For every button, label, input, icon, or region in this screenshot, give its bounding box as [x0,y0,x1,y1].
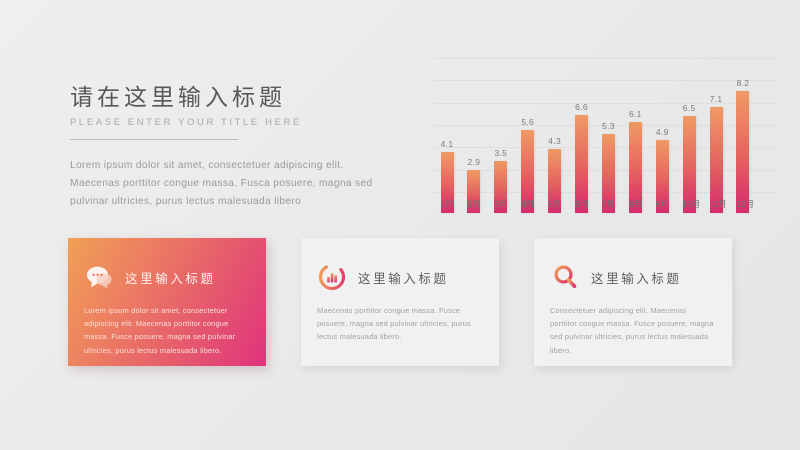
bar-column[interactable]: 6.6 [575,79,589,213]
card-title-2: 这里输入标题 [358,268,449,287]
bar-value-label: 4.3 [548,136,561,146]
card-title-1: 这里输入标题 [125,268,216,287]
card-title-3: 这里输入标题 [591,268,682,287]
axis-tick-label: 3月 [494,198,508,210]
monthly-bar-chart: 4.12.93.55.64.36.65.36.14.96.57.18.2 1月2… [434,58,754,213]
bar-column[interactable]: 4.1 [440,79,454,213]
axis-tick-label: 5月 [548,198,562,210]
bar-column[interactable]: 2.9 [467,79,481,213]
intro-block: 请在这里输入标题 PLEASE ENTER YOUR TITLE HERE Lo… [70,84,400,211]
bar-column[interactable]: 5.6 [521,79,535,213]
bar-value-label: 6.6 [575,102,588,112]
axis-tick-label: 11月 [709,198,723,210]
chart-bars: 4.12.93.55.64.36.65.36.14.96.57.18.2 [440,79,750,213]
axis-tick-label: 2月 [467,198,481,210]
bar-value-label: 5.6 [521,117,534,127]
page-subtitle: PLEASE ENTER YOUR TITLE HERE [70,117,400,128]
bar-column[interactable]: 3.5 [494,79,508,213]
bar-value-label: 3.5 [494,148,507,158]
bar-column[interactable]: 5.3 [601,79,615,213]
bar-value-label: 4.9 [656,127,669,137]
bar-column[interactable]: 6.1 [628,79,642,213]
page-title: 请在这里输入标题 [70,84,400,112]
card-header-2: 这里输入标题 [301,238,499,294]
feature-card-row: 这里输入标题 Lorem ipsum dolor sit amet, conse… [68,238,732,366]
bar-value-label: 2.9 [468,157,481,167]
magnifier-icon [550,262,580,292]
chat-bubble-icon [84,262,114,292]
bar-column[interactable]: 7.1 [709,79,723,213]
bar-value-label: 6.1 [629,109,642,119]
axis-tick-label: 9月 [655,198,669,210]
title-divider [70,139,238,140]
bar[interactable] [736,91,749,213]
bar-value-label: 6.5 [683,103,696,113]
bar-value-label: 7.1 [710,94,723,104]
axis-tick-label: 7月 [601,198,615,210]
card-body-3: Consectetuer adipiscing elit. Maecenas p… [534,294,732,357]
bar-column[interactable]: 8.2 [736,79,750,213]
bar-column[interactable]: 4.3 [548,79,562,213]
intro-paragraph: Lorem ipsum dolor sit amet, consectetuer… [70,157,390,211]
bar-value-label: 4.1 [441,139,454,149]
bar-value-label: 5.3 [602,121,615,131]
axis-tick-label: 10月 [682,198,696,210]
axis-tick-label: 12月 [736,198,750,210]
card-body-2: Maecenas porttitor congue massa. Fusce p… [301,294,499,344]
feature-card-3[interactable]: 这里输入标题 Consectetuer adipiscing elit. Mae… [534,238,732,366]
grid-line [434,58,778,59]
card-header-1: 这里输入标题 [68,238,266,294]
axis-tick-label: 6月 [575,198,589,210]
card-body-1: Lorem ipsum dolor sit amet, consectetuer… [68,294,266,357]
axis-tick-label: 4月 [521,198,535,210]
card-header-3: 这里输入标题 [534,238,732,294]
bar-column[interactable]: 4.9 [655,79,669,213]
axis-tick-label: 8月 [628,198,642,210]
bar-chart-circle-icon [317,262,347,292]
feature-card-2[interactable]: 这里输入标题 Maecenas porttitor congue massa. … [301,238,499,366]
feature-card-1[interactable]: 这里输入标题 Lorem ipsum dolor sit amet, conse… [68,238,266,366]
chart-x-axis: 1月2月3月4月5月6月7月8月9月10月11月12月 [440,198,750,210]
bar-column[interactable]: 6.5 [682,79,696,213]
axis-tick-label: 1月 [440,198,454,210]
slide-canvas: 请在这里输入标题 PLEASE ENTER YOUR TITLE HERE Lo… [0,0,800,450]
bar-value-label: 8.2 [737,78,750,88]
